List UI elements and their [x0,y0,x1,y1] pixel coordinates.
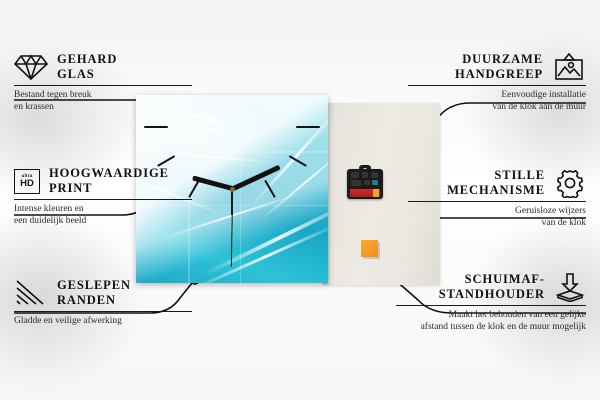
picture-frame-hanger-icon [552,52,586,82]
feature-title: STILLE MECHANISME [408,168,545,198]
hour-tick [264,180,276,198]
hour-tick [144,126,168,128]
feature-description: Geruisloze wijzers van de klok [408,206,586,229]
infographic-canvas: GEHARD GLAS Bestand tegen breuk en krass… [0,0,600,400]
quartz-movement [347,165,383,199]
feature-description: Intense kleuren en een duidelijk beeld [14,204,192,227]
feature-duurzame-handgreep[interactable]: DUURZAME HANDGREEP Eenvoudige installati… [408,52,586,113]
feature-hoogwaardige-print[interactable]: ultra HD HOOGWAARDIGE PRINT Intense kleu… [14,166,192,227]
movement-body [347,169,383,199]
divider [14,199,192,200]
foam-spacer-pad [361,240,378,257]
divider [14,311,192,312]
feature-gehard-glas[interactable]: GEHARD GLAS Bestand tegen breuk en krass… [14,52,192,113]
feature-schuimaf-standhouder[interactable]: SCHUIMAF- STANDHOUDER Maakt het behouden… [396,272,586,333]
second-hand [231,189,234,267]
clock-center-hub [230,187,235,192]
feature-title: GESLEPEN RANDEN [57,278,131,308]
feature-stille-mechanisme[interactable]: STILLE MECHANISME Geruisloze wijzers van… [408,168,586,229]
feature-title: DUURZAME HANDGREEP [408,52,543,82]
hour-tick [289,155,307,167]
feature-title: SCHUIMAF- STANDHOUDER [396,272,545,302]
ultra-hd-icon: ultra HD [14,169,40,194]
bevelled-edges-icon [14,279,48,307]
feature-title: GEHARD GLAS [57,52,117,82]
hour-tick [296,126,320,128]
diamond-icon [14,53,48,81]
divider [396,305,586,306]
minute-hand [231,165,280,192]
foam-spacer-icon [554,272,586,302]
gear-icon [554,168,586,198]
feature-geslepen-randen[interactable]: GESLEPEN RANDEN Gladde en veilige afwerk… [14,278,192,328]
feature-title: HOOGWAARDIGE PRINT [49,166,169,196]
feature-description: Eenvoudige installatie van de klok aan d… [408,90,586,113]
feature-description: Gladde en veilige afwerking [14,316,192,328]
ultra-hd-icon-main-label: HD [20,179,34,189]
battery [350,189,380,197]
divider [408,85,586,86]
divider [408,201,586,202]
divider [14,85,192,86]
feature-description: Maakt het behouden van een gelijke afsta… [396,310,586,333]
feature-description: Bestand tegen breuk en krassen [14,90,192,113]
